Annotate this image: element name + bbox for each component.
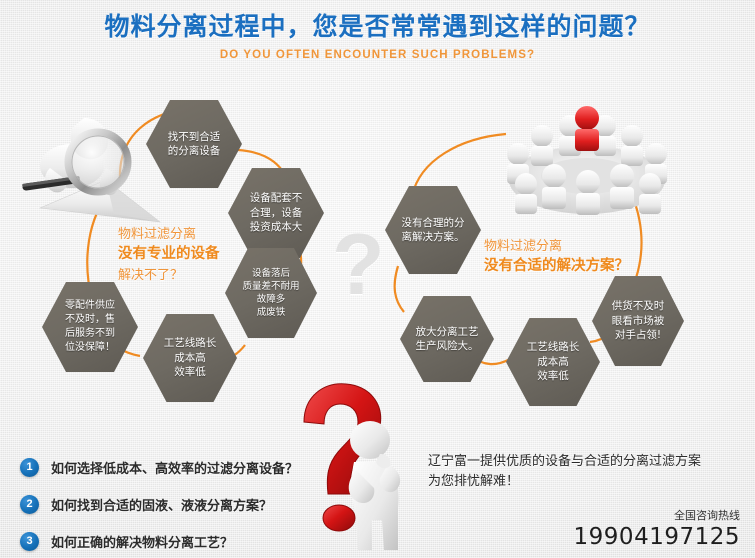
question-list: 1 如何选择低成本、高效率的过滤分离设备？ 2 如何找到合适的固液、液液分离方案… <box>20 452 298 558</box>
right-caption-line1: 物料过滤分离 <box>484 236 629 256</box>
left-caption-line2: 没有专业的设备 <box>118 244 220 266</box>
thinking-man-illustration <box>288 378 424 558</box>
page-title: 物料分离过程中，您是否常常遇到这样的问题？ <box>0 14 755 42</box>
contact-line-2: 为您排忧解难！ <box>428 472 740 492</box>
hexagon-right-4-text: 供货不及时 眼看市场被 对手占领! <box>600 299 677 342</box>
list-item-number: 3 <box>20 532 39 551</box>
list-item-number: 2 <box>20 495 39 514</box>
right-group-caption: 物料过滤分离 没有合适的解决方案？ <box>484 236 629 277</box>
hexagon-right-4: 供货不及时 眼看市场被 对手占领! <box>592 276 684 366</box>
right-caption-line2: 没有合适的解决方案？ <box>484 256 629 278</box>
left-group-caption: 物料过滤分离 没有专业的设备 解决不了？ <box>118 224 220 285</box>
hexagon-left-4-text: 工艺线路长 成本高 效率低 <box>152 336 229 379</box>
list-item[interactable]: 1 如何选择低成本、高效率的过滤分离设备？ <box>20 452 298 482</box>
hexagon-left-2: 设备配套不 合理，设备 投资成本大 <box>228 168 324 258</box>
hexagon-left-3: 设备落后 质量差不耐用 故障多 成废铁 <box>225 248 317 338</box>
hotline-label: 全国咨询热线 <box>428 507 740 523</box>
list-item[interactable]: 3 如何正确的解决物料分离工艺？ <box>20 526 298 556</box>
list-item-number: 1 <box>20 458 39 477</box>
hexagon-left-2-text: 设备配套不 合理，设备 投资成本大 <box>238 191 315 234</box>
hexagon-right-2: 放大分离工艺 生产风险大。 <box>400 296 494 382</box>
contact-block: 辽宁富一提供优质的设备与合适的分离过滤方案 为您排忧解难！ 全国咨询热线 199… <box>428 452 740 550</box>
left-caption-line1: 物料过滤分离 <box>118 224 220 244</box>
poster-header: 物料分离过程中，您是否常常遇到这样的问题？ DO YOU OFTEN ENCOU… <box>0 14 755 61</box>
man-with-magnifying-glass-illustration <box>10 96 165 226</box>
hotline-number[interactable]: 19904197125 <box>428 524 740 550</box>
left-caption-line3: 解决不了？ <box>118 265 220 285</box>
hexagon-left-4: 工艺线路长 成本高 效率低 <box>143 314 237 402</box>
hexagon-right-1-text: 没有合理的分 离解决方案。 <box>390 216 477 245</box>
page-subtitle: DO YOU OFTEN ENCOUNTER SUCH PROBLEMS? <box>0 49 755 61</box>
decorative-question-mark: ? <box>332 222 385 308</box>
hexagon-right-3-text: 工艺线路长 成本高 效率低 <box>515 340 592 383</box>
list-item-label: 如何找到合适的固液、液液分离方案？ <box>51 495 272 514</box>
team-meeting-illustration <box>492 88 682 220</box>
hexagon-right-1: 没有合理的分 离解决方案。 <box>385 186 481 274</box>
poster-canvas: 物料分离过程中，您是否常常遇到这样的问题？ DO YOU OFTEN ENCOU… <box>0 0 755 558</box>
hexagon-right-2-text: 放大分离工艺 生产风险大。 <box>404 325 491 354</box>
hexagon-left-5-text: 零配件供应 不及时，售 后服务不到 位没保障！ <box>53 299 127 354</box>
hexagon-left-3-text: 设备落后 质量差不耐用 故障多 成废铁 <box>230 267 311 319</box>
hexagon-right-3: 工艺线路长 成本高 效率低 <box>506 318 600 406</box>
list-item[interactable]: 2 如何找到合适的固液、液液分离方案？ <box>20 489 298 519</box>
list-item-label: 如何正确的解决物料分离工艺？ <box>51 532 233 551</box>
contact-line-1: 辽宁富一提供优质的设备与合适的分离过滤方案 <box>428 452 740 472</box>
hexagon-left-5: 零配件供应 不及时，售 后服务不到 位没保障！ <box>42 282 138 372</box>
hexagon-left-1-text: 找不到合适 的分离设备 <box>156 130 233 159</box>
list-item-label: 如何选择低成本、高效率的过滤分离设备？ <box>51 458 298 477</box>
